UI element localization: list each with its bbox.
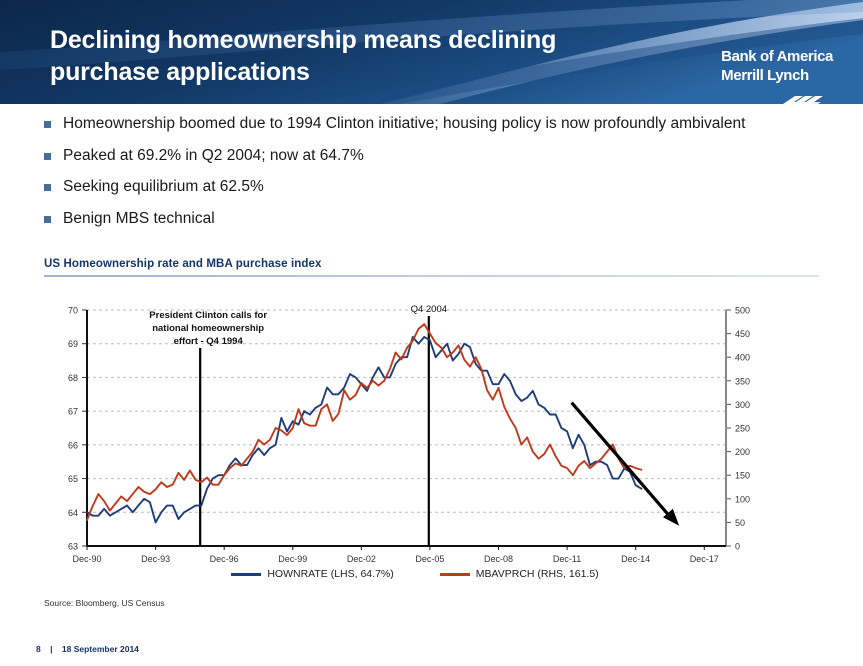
legend-item-hownrate: HOWNRATE (LHS, 64.7%) — [231, 568, 393, 580]
axis-label-left: 64 — [68, 508, 78, 518]
source-note: Source: Bloomberg, US Census — [44, 598, 164, 608]
slide-title: Declining homeownership means declining … — [50, 24, 650, 88]
bullet-square-icon — [44, 216, 51, 223]
axis-label-right: 300 — [735, 400, 750, 410]
decline-arrow-shaft — [572, 403, 670, 517]
axis-label-x: Dec-99 — [278, 554, 307, 564]
axis-label-left: 67 — [68, 407, 78, 417]
axis-label-right: 50 — [735, 518, 745, 528]
page-number: 8 — [36, 644, 41, 654]
annotation-clinton-line: effort - Q4 1994 — [174, 336, 244, 347]
bullet-text: Peaked at 69.2% in Q2 2004; now at 64.7% — [63, 146, 364, 167]
axis-label-right: 150 — [735, 471, 750, 481]
axis-label-x: Dec-14 — [621, 554, 650, 564]
bullet-text: Seeking equilibrium at 62.5% — [63, 177, 264, 198]
logo-line-2: Merrill Lynch — [721, 67, 833, 86]
bullet-text: Benign MBS technical — [63, 209, 215, 230]
legend-swatch-red — [440, 573, 470, 576]
axis-label-x: Dec-17 — [690, 554, 719, 564]
axis-label-right: 450 — [735, 329, 750, 339]
series-line-hownrate — [87, 337, 641, 522]
legend-item-mbavprch: MBAVPRCH (RHS, 161.5) — [440, 568, 599, 580]
axis-label-left: 69 — [68, 339, 78, 349]
axis-label-right: 500 — [735, 306, 750, 316]
axis-label-right: 100 — [735, 494, 750, 504]
axis-label-x: Dec-93 — [141, 554, 170, 564]
legend-swatch-blue — [231, 573, 261, 576]
bullet-square-icon — [44, 121, 51, 128]
axis-label-left: 66 — [68, 440, 78, 450]
chart-heading: US Homeownership rate and MBA purchase i… — [44, 258, 321, 270]
axis-label-right: 400 — [735, 353, 750, 363]
annotation-clinton-line: President Clinton calls for — [149, 310, 267, 321]
axis-label-x: Dec-11 — [553, 554, 581, 564]
list-item: Peaked at 69.2% in Q2 2004; now at 64.7% — [44, 146, 824, 167]
bullet-list: Homeownership boomed due to 1994 Clinton… — [44, 114, 824, 240]
axis-label-left: 68 — [68, 373, 78, 383]
axis-label-left: 70 — [68, 306, 78, 316]
axis-label-x: Dec-05 — [415, 554, 444, 564]
bofa-merrill-logo: Bank of America Merrill Lynch — [721, 48, 833, 86]
axis-label-x: Dec-08 — [484, 554, 513, 564]
axis-label-left: 63 — [68, 542, 78, 552]
axis-label-right: 350 — [735, 376, 750, 386]
homeownership-mba-line-chart: 6364656667686970050100150200250300350400… — [0, 288, 830, 578]
logo-line-1: Bank of America — [721, 48, 833, 67]
bullet-text: Homeownership boomed due to 1994 Clinton… — [63, 114, 745, 135]
axis-label-right: 200 — [735, 447, 750, 457]
chart-legend: HOWNRATE (LHS, 64.7%) MBAVPRCH (RHS, 161… — [0, 568, 830, 580]
list-item: Benign MBS technical — [44, 209, 824, 230]
annotation-q4-2004: Q4 2004 — [411, 304, 447, 315]
bullet-square-icon — [44, 184, 51, 191]
legend-label: MBAVPRCH (RHS, 161.5) — [476, 568, 599, 580]
axis-label-right: 0 — [735, 542, 740, 552]
axis-label-right: 250 — [735, 424, 750, 434]
list-item: Seeking equilibrium at 62.5% — [44, 177, 824, 198]
footer-separator: | — [50, 644, 52, 654]
header-banner: Declining homeownership means declining … — [0, 0, 863, 104]
chart-heading-rule — [44, 275, 819, 277]
annotation-clinton-line: national homeownership — [152, 323, 264, 334]
axis-label-x: Dec-02 — [347, 554, 376, 564]
chart-container: 6364656667686970050100150200250300350400… — [0, 288, 830, 578]
legend-label: HOWNRATE (LHS, 64.7%) — [267, 568, 393, 580]
slide-footer: 8 | 18 September 2014 — [36, 644, 139, 654]
axis-label-left: 65 — [68, 474, 78, 484]
list-item: Homeownership boomed due to 1994 Clinton… — [44, 114, 824, 135]
axis-label-x: Dec-90 — [72, 554, 101, 564]
bofa-flag-icon — [773, 92, 827, 104]
bullet-square-icon — [44, 153, 51, 160]
axis-label-x: Dec-96 — [210, 554, 239, 564]
footer-date: 18 September 2014 — [62, 644, 139, 654]
